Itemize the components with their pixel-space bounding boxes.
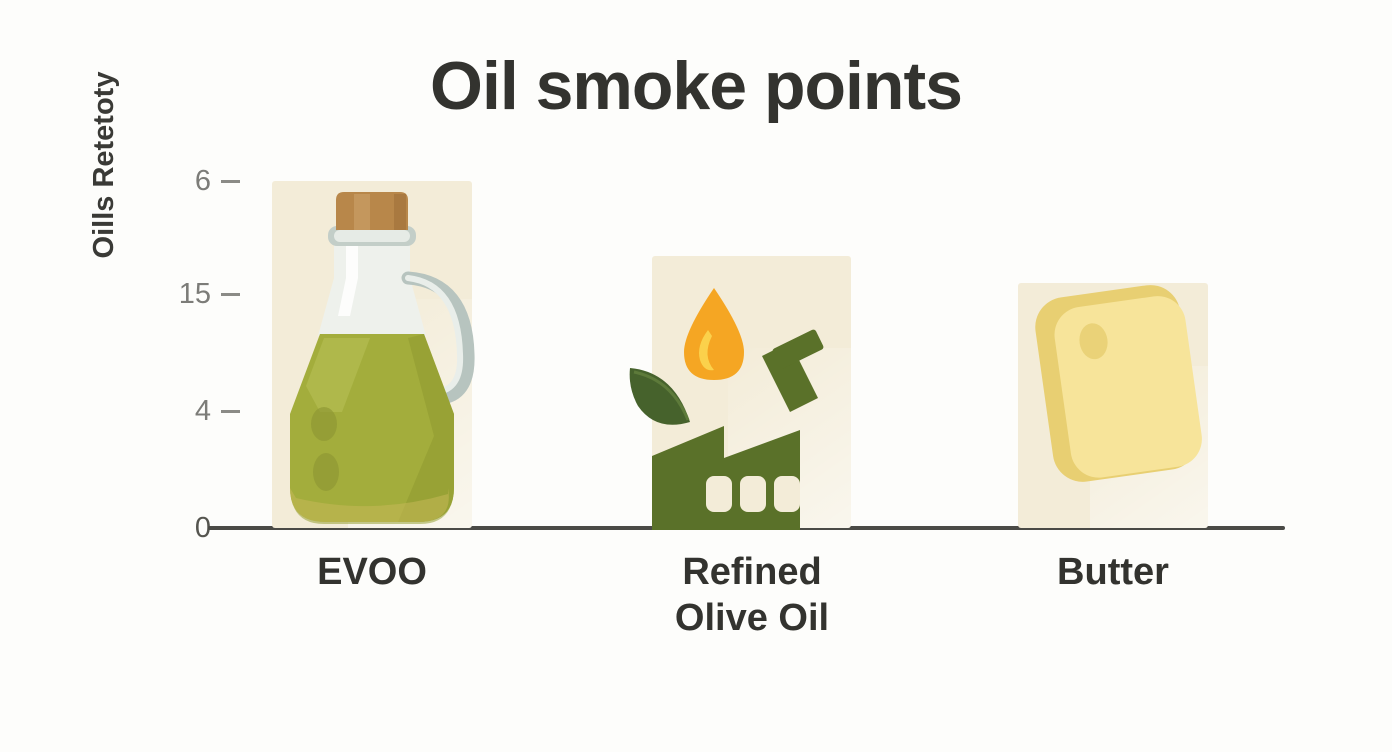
y-tick-dash-icon — [221, 410, 240, 413]
x-axis-label-line: EVOO — [232, 549, 512, 595]
x-axis-label-butter: Butter — [973, 549, 1253, 595]
bar-butter[interactable] — [1018, 283, 1208, 528]
bar-sheen — [348, 299, 472, 528]
y-tick-15: 15 — [179, 277, 240, 311]
y-tick-dash-icon — [221, 180, 240, 183]
y-axis-ticks: 61540 — [0, 0, 240, 752]
chart-figure: Oil smoke points Oills Retetoty 61540 — [0, 0, 1392, 752]
bar-refined-olive-oil[interactable] — [652, 256, 851, 528]
x-axis-label-line: Refined — [612, 549, 892, 595]
x-axis-label-refined-olive-oil: RefinedOlive Oil — [612, 549, 892, 642]
x-axis-label-line: Butter — [973, 549, 1253, 595]
bar-evoo[interactable] — [272, 181, 472, 528]
bar-sheen — [728, 348, 851, 528]
bar-sheen — [1090, 366, 1208, 528]
y-tick-dash-icon — [221, 293, 240, 296]
y-tick-label: 6 — [195, 165, 211, 198]
x-axis-label-evoo: EVOO — [232, 549, 512, 595]
y-tick-6: 6 — [195, 164, 240, 198]
y-tick-4: 4 — [195, 394, 240, 428]
y-tick-label: 15 — [179, 278, 211, 311]
x-axis-label-line: Olive Oil — [612, 595, 892, 641]
y-tick-label: 4 — [195, 395, 211, 428]
